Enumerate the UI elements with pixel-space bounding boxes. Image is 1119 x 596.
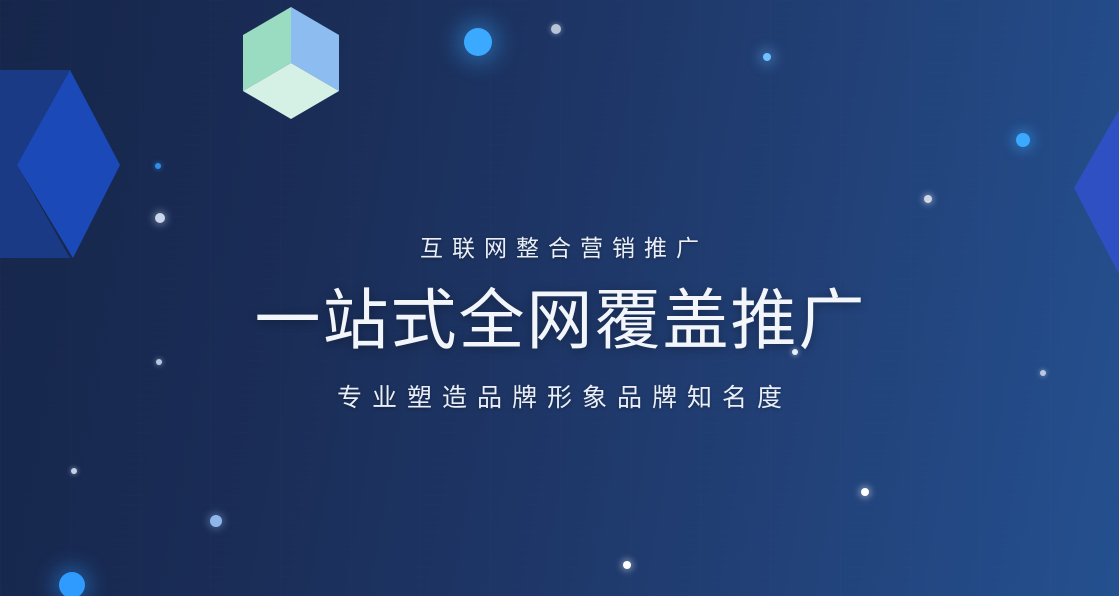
particle-blue-glow [763, 53, 771, 61]
particle-white-left [155, 213, 165, 223]
hero-banner: 互联网整合营销推广 一站式全网覆盖推广 专业塑造品牌形象品牌知名度 [0, 0, 1119, 596]
particle-blue-low [210, 515, 222, 527]
particle-white-dim [1040, 370, 1046, 376]
particle-cyan-large [464, 28, 492, 56]
particle-grey-small [551, 24, 561, 34]
particle-white-mid [924, 195, 932, 203]
particle-white-low [71, 468, 77, 474]
particle-blue-tiny [155, 163, 161, 169]
particle-cyan-corner [59, 572, 85, 596]
isometric-cube-logo [241, 5, 341, 121]
particle-white-bottom [623, 561, 631, 569]
banner-tagline: 专业塑造品牌形象品牌知名度 [0, 380, 1119, 416]
particle-white-right [861, 488, 869, 496]
particle-cyan-mid [1016, 133, 1030, 147]
banner-headline: 一站式全网覆盖推广 [0, 278, 1119, 362]
banner-eyebrow: 互联网整合营销推广 [0, 232, 1119, 264]
